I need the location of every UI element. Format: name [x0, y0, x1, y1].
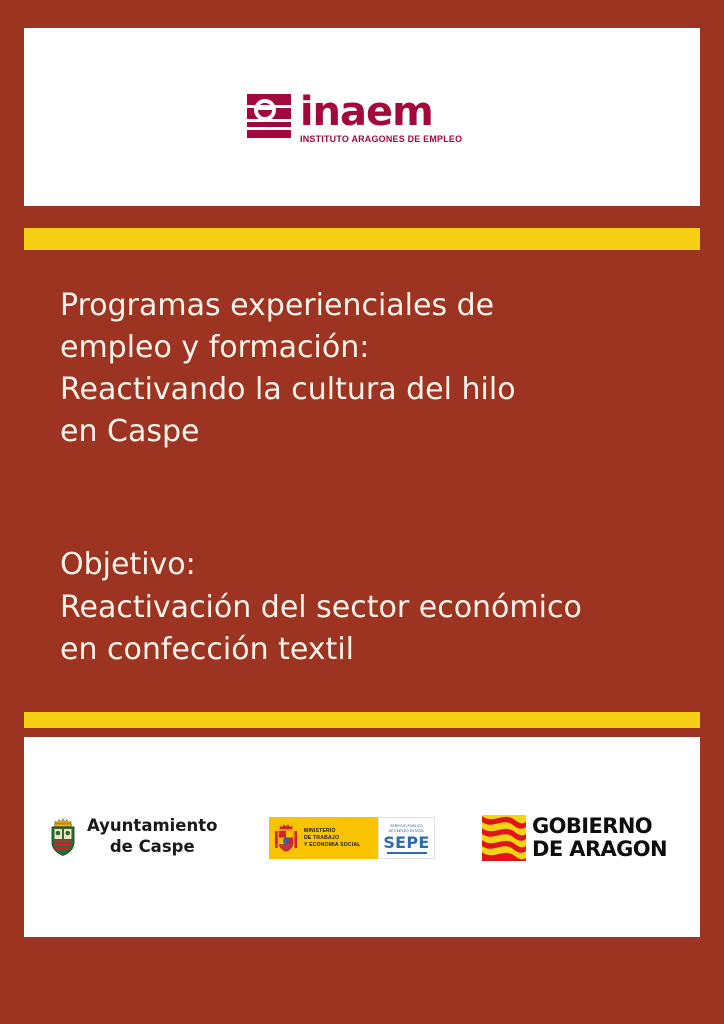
logo-gobierno-de-aragon: GOBIERNO DE ARAGON [482, 815, 667, 861]
ministerio-text: MINISTERIO DE TRABAJO Y ECONOMIA SOCIAL [304, 828, 361, 849]
header-logo-panel: inaem INSTITUTO ARAGONES DE EMPLEO [24, 28, 700, 206]
poster-headline: Programas experienciales de empleo y for… [60, 285, 660, 453]
objective-block: Objetivo: Reactivación del sector económ… [60, 543, 680, 671]
spain-coat-of-arms-icon [273, 822, 299, 854]
divider-rule-bottom [24, 712, 700, 728]
headline-block: Programas experienciales de empleo y for… [60, 285, 660, 453]
objective-label: Objetivo: [60, 543, 680, 587]
sepe-panel: SERVICIO PUBLICO DE EMPLEO ESTATAL SEPE [378, 817, 435, 859]
sepe-wordmark: SEPE [383, 834, 429, 851]
caspe-coat-of-arms-icon [48, 815, 78, 857]
footer-logo-panel: Ayuntamiento de Caspe [24, 737, 700, 937]
inaem-tagline: INSTITUTO ARAGONES DE EMPLEO [300, 133, 462, 145]
poster-page: inaem INSTITUTO ARAGONES DE EMPLEO Progr… [0, 0, 724, 1024]
aragon-wavy-flag-icon [482, 815, 526, 861]
sepe-tagline: SERVICIO PUBLICO DE EMPLEO ESTATAL [389, 824, 425, 833]
caspe-line-1: Ayuntamiento [87, 815, 217, 836]
objective-text: Reactivación del sector económico en con… [60, 587, 680, 671]
ministerio-panel: MINISTERIO DE TRABAJO Y ECONOMIA SOCIAL [269, 817, 378, 859]
inaem-e-mark-icon [247, 94, 291, 138]
inaem-logo: inaem INSTITUTO ARAGONES DE EMPLEO [247, 94, 467, 145]
sepe-underline-rule [387, 852, 427, 854]
divider-rule-top [24, 228, 700, 250]
logo-ministerio-sepe: MINISTERIO DE TRABAJO Y ECONOMIA SOCIAL … [269, 817, 435, 859]
inaem-typography: inaem INSTITUTO ARAGONES DE EMPLEO [300, 94, 467, 145]
logo-ayuntamiento-de-caspe: Ayuntamiento de Caspe [48, 815, 217, 857]
inaem-wordmark: inaem [300, 94, 467, 130]
aragon-wordmark: GOBIERNO DE ARAGON [532, 815, 667, 861]
caspe-wordmark: Ayuntamiento de Caspe [87, 815, 217, 857]
caspe-line-2: de Caspe [87, 836, 217, 857]
